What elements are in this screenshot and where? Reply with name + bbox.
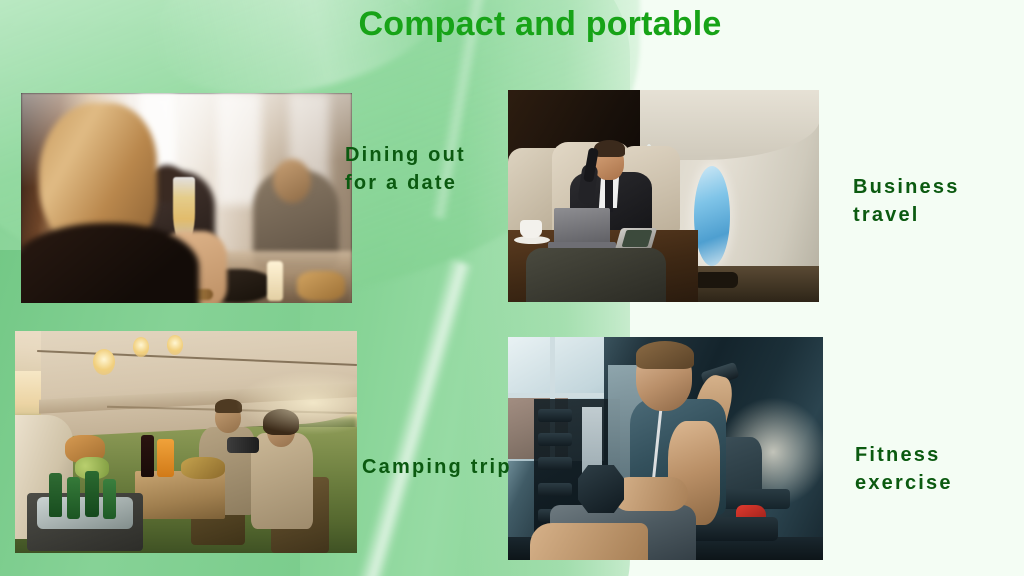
label-camping-trip: Camping trip [362,453,512,481]
laptop [554,208,610,246]
business-travel-photo [508,90,819,302]
fitness-exercise-photo [508,337,823,560]
rack-dumbbell [538,457,572,470]
candle [267,261,283,301]
drink-bottle [67,477,80,519]
window-mullion [508,393,604,398]
rack-dumbbell [538,433,572,446]
label-fitness-exercise: Fitness exercise [855,441,1023,498]
juice-bottle [157,439,174,477]
necktie [605,178,613,212]
sun-glare [235,371,357,435]
label-business-travel: Business travel [853,173,1018,230]
label-dining-out: Dining out for a date [345,141,495,198]
coffee-cup [520,220,542,238]
page-title: Compact and portable [340,5,740,44]
tablet-screen [622,230,653,247]
cabin-window-blue [694,166,730,266]
light-bulb [167,335,183,355]
drink-bottle [49,473,62,517]
drink-bottle [85,471,99,517]
rack-dumbbell [538,409,572,422]
foreground-shoulder [21,223,199,303]
businessman-hair [594,140,625,157]
drink-bottle [103,479,116,519]
cup-holder [694,272,738,288]
dining-out-photo [21,93,352,303]
light-bulb [133,337,149,357]
slide-canvas: Compact and portable [0,0,1024,576]
light-bulb [93,349,115,375]
background-light-streak [344,259,474,576]
athlete-thigh [530,523,648,560]
camper-woman [251,433,313,529]
camping-trip-photo [15,331,357,553]
athlete-hair [636,341,694,369]
wine-bottle [141,435,154,477]
window-light [217,93,261,205]
food-platter [297,271,345,301]
fruit-bowl [181,457,225,479]
held-dumbbell [578,465,624,513]
rack-dumbbell [538,483,572,496]
seated-woman-head [273,159,311,203]
thermos-flask [227,437,259,453]
cabin-sofa [526,248,666,302]
